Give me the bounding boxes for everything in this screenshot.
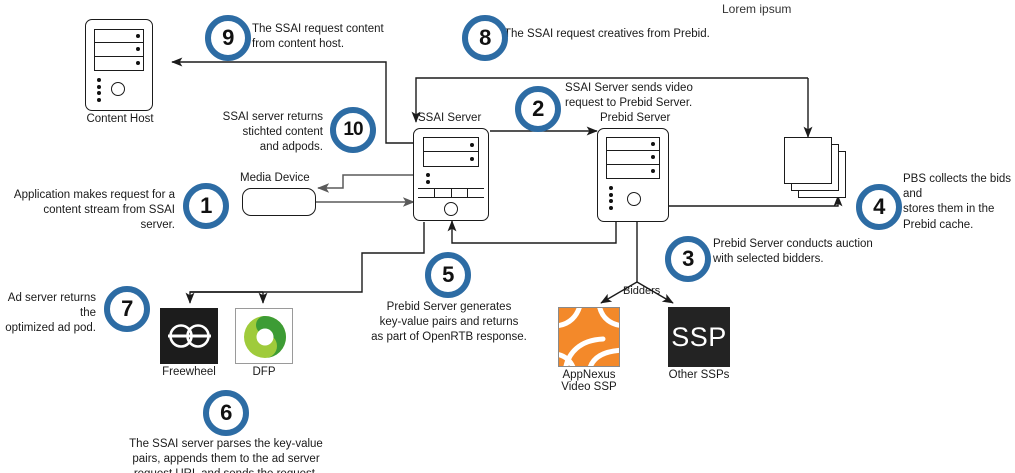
- step-badge-5[interactable]: 5: [425, 252, 471, 298]
- ssai-server-leds: [426, 173, 430, 184]
- dfp-label: DFP: [235, 366, 293, 378]
- step-badge-10[interactable]: 10: [330, 107, 376, 153]
- content-host-power-knob: [111, 82, 125, 96]
- step-caption-7: Ad server returns the optimized ad pod.: [0, 291, 96, 337]
- step-badge-3[interactable]: 3: [665, 236, 711, 282]
- freewheel-icon: [160, 308, 218, 364]
- freewheel-label: Freewheel: [150, 366, 228, 378]
- prebid-server-power-knob: [627, 192, 641, 206]
- page-title: Lorem ipsum: [722, 2, 791, 16]
- prebid-server-node[interactable]: [597, 128, 669, 222]
- step-caption-2: SSAI Server sends video request to Prebi…: [565, 81, 755, 111]
- dfp-logo-tile[interactable]: [235, 308, 293, 364]
- ssai-server-drive-slots: [418, 188, 483, 198]
- step-caption-8: The SSAI request creatives from Prebid.: [504, 27, 754, 42]
- ssai-server-power-knob: [444, 202, 458, 216]
- other-ssps-label: Other SSPs: [660, 369, 738, 381]
- step-badge-8[interactable]: 8: [462, 15, 508, 61]
- step-badge-7[interactable]: 7: [104, 286, 150, 332]
- prebid-cache-node[interactable]: [784, 137, 854, 199]
- content-host-bays: [94, 29, 144, 71]
- prebid-server-bays: [606, 137, 659, 179]
- step-caption-4: PBS collects the bids and stores them in…: [903, 172, 1015, 233]
- step-badge-6[interactable]: 6: [203, 390, 249, 436]
- ssai-server-label: SSAI Server: [418, 112, 498, 124]
- diagram-canvas: Lorem ipsum Content Host Media Device SS…: [0, 0, 1015, 473]
- prebid-server-label: Prebid Server: [600, 112, 700, 124]
- bidders-edge-label: Bidders: [623, 285, 660, 297]
- appnexus-icon: [559, 308, 620, 367]
- prebid-server-leds: [609, 186, 613, 210]
- media-device-node[interactable]: [242, 188, 316, 216]
- step-badge-2[interactable]: 2: [515, 86, 561, 132]
- media-device-label: Media Device: [240, 172, 330, 184]
- ssp-tile-word: SSP: [671, 322, 727, 353]
- content-host-node[interactable]: [85, 19, 153, 111]
- step-caption-5: Prebid Server generates key-value pairs …: [368, 300, 530, 346]
- other-ssps-logo-tile[interactable]: SSP: [668, 307, 730, 367]
- dfp-icon: [236, 309, 293, 364]
- freewheel-logo-tile[interactable]: [160, 308, 218, 364]
- step-caption-9: The SSAI request content from content ho…: [252, 22, 432, 52]
- cache-sheet-front: [784, 137, 832, 184]
- step-badge-1[interactable]: 1: [183, 183, 229, 229]
- step-caption-3: Prebid Server conducts auction with sele…: [713, 237, 913, 267]
- step-caption-6: The SSAI server parses the key-value pai…: [118, 437, 334, 473]
- appnexus-logo-tile[interactable]: [558, 307, 620, 367]
- step-badge-9[interactable]: 9: [205, 15, 251, 61]
- content-host-leds: [97, 78, 101, 102]
- step-badge-4[interactable]: 4: [856, 184, 902, 230]
- appnexus-label: AppNexus Video SSP: [540, 369, 638, 393]
- ssai-server-bays: [423, 137, 479, 167]
- ssai-server-node[interactable]: [413, 128, 489, 221]
- step-caption-1: Application makes request for a content …: [10, 188, 175, 234]
- step-caption-10: SSAI server returns stichted content and…: [205, 110, 323, 156]
- content-host-label: Content Host: [65, 113, 175, 125]
